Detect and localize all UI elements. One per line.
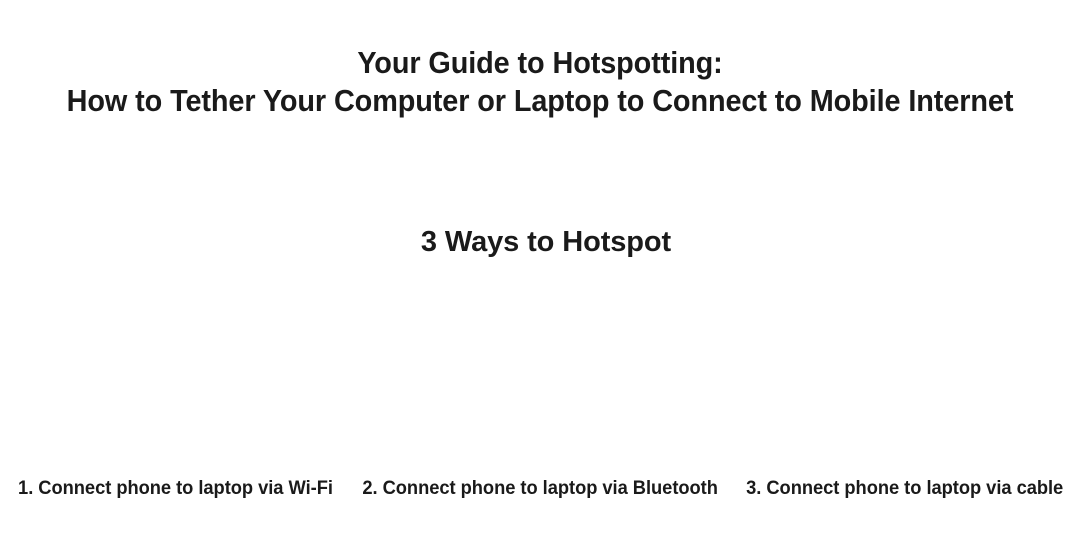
page-title-line-1: Your Guide to Hotspotting: bbox=[38, 44, 1042, 82]
method-caption-cable: 3. Connect phone to laptop via cable bbox=[746, 476, 1063, 520]
method-caption-bluetooth: 2. Connect phone to laptop via Bluetooth bbox=[362, 476, 718, 520]
section-heading: 3 Ways to Hotspot bbox=[0, 224, 1080, 260]
method-item-cable: 3. Connect phone to laptop via cable bbox=[729, 280, 1080, 520]
method-item-bluetooth: 2. Connect phone to laptop via Bluetooth bbox=[351, 280, 729, 520]
hotspot-bluetooth-illustration bbox=[351, 280, 729, 476]
page-title-line-2: How to Tether Your Computer or Laptop to… bbox=[38, 82, 1042, 120]
method-caption-wifi: 1. Connect phone to laptop via Wi-Fi bbox=[18, 476, 333, 520]
hotspot-cable-illustration bbox=[729, 280, 1080, 476]
section-heading-label: 3 Ways to Hotspot bbox=[421, 224, 671, 260]
page-title: Your Guide to Hotspotting: How to Tether… bbox=[0, 44, 1080, 120]
infographic-page: Your Guide to Hotspotting: How to Tether… bbox=[0, 0, 1080, 552]
methods-row: 1. Connect phone to laptop via Wi-Fi 2. … bbox=[0, 280, 1080, 520]
hotspot-wifi-illustration bbox=[0, 280, 351, 476]
method-item-wifi: 1. Connect phone to laptop via Wi-Fi bbox=[0, 280, 351, 520]
